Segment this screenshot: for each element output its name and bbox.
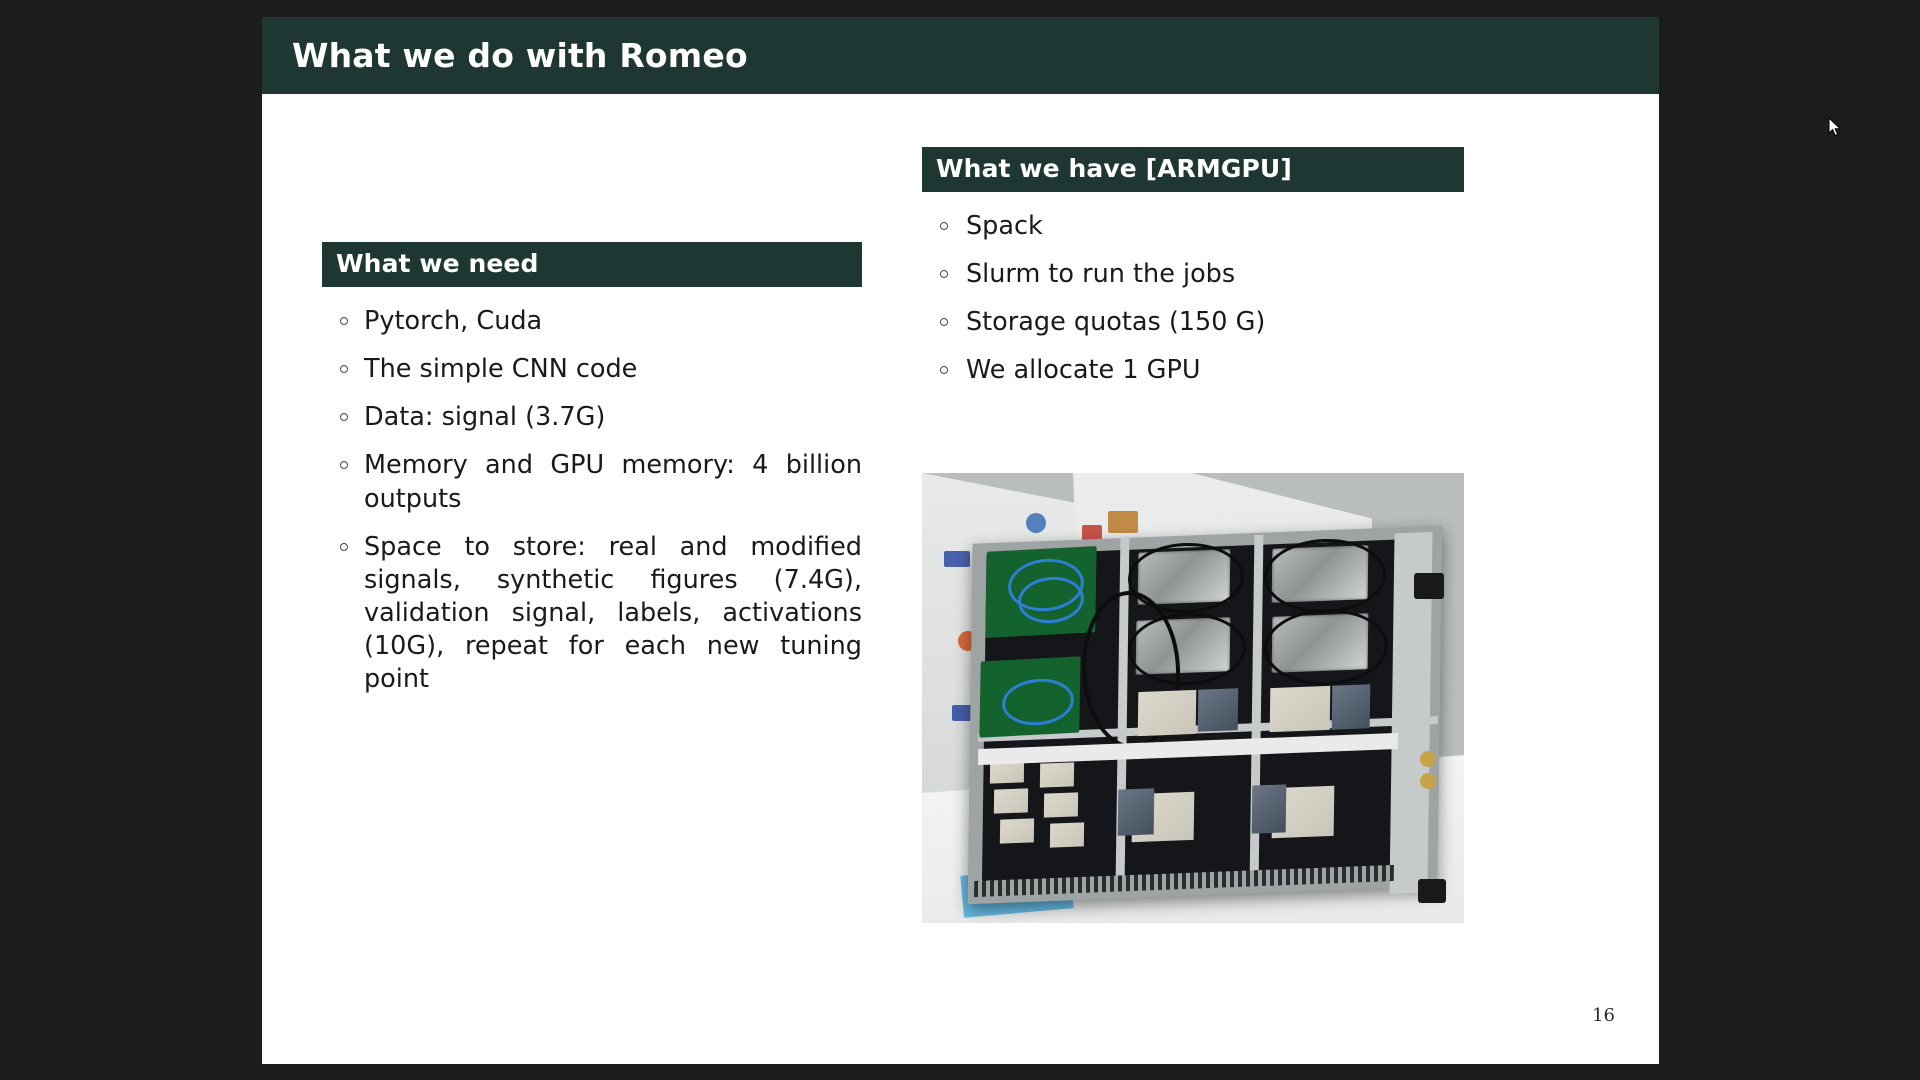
rear-power-module <box>1418 879 1446 903</box>
cpu-die <box>1198 688 1239 732</box>
circle-outline-icon <box>940 318 948 326</box>
sponsor-logo <box>1026 513 1046 533</box>
page-number: 16 <box>1592 1005 1615 1026</box>
list-item: Storage quotas (150 G) <box>922 306 1464 339</box>
circle-outline-icon <box>340 461 348 469</box>
mouse-pointer-icon <box>1828 117 1842 137</box>
circle-outline-icon <box>340 365 348 373</box>
list-item: Pytorch, Cuda <box>322 305 862 338</box>
circle-outline-icon <box>340 413 348 421</box>
rear-connector <box>1420 773 1436 789</box>
list-item-text: Data: signal (3.7G) <box>364 402 605 432</box>
rear-connector <box>1420 751 1436 767</box>
rear-power-module <box>1414 573 1444 599</box>
list-item-text: Pytorch, Cuda <box>364 306 542 336</box>
circle-outline-icon <box>940 270 948 278</box>
list-item-text: Slurm to run the jobs <box>966 259 1235 289</box>
block-have-body: Spack Slurm to run the jobs Storage quot… <box>922 192 1464 388</box>
list-item-text: Memory and GPU memory: 4 billion outputs <box>364 450 862 513</box>
list-item: Slurm to run the jobs <box>922 258 1464 291</box>
cpu-socket <box>1270 686 1331 732</box>
cpu-die <box>1332 684 1371 730</box>
cpu-socket <box>1138 690 1197 736</box>
slide-title-bar: What we do with Romeo <box>262 17 1659 94</box>
need-list: Pytorch, Cuda The simple CNN code Data: … <box>322 305 862 696</box>
list-item: Space to store: real and modified signal… <box>322 531 862 697</box>
sponsor-logo <box>944 551 970 567</box>
page-title: What we do with Romeo <box>292 36 748 75</box>
memory-module <box>1044 792 1078 817</box>
server-photo-canvas <box>922 473 1464 923</box>
list-item-text: Spack <box>966 211 1043 241</box>
list-item: The simple CNN code <box>322 353 862 386</box>
list-item: We allocate 1 GPU <box>922 354 1464 387</box>
list-item-text: Space to store: real and modified signal… <box>364 532 862 695</box>
block-need-body: Pytorch, Cuda The simple CNN code Data: … <box>322 287 862 696</box>
block-need-heading: What we need <box>322 242 862 287</box>
block-what-we-have: What we have [ARMGPU] Spack Slurm to run… <box>922 147 1464 388</box>
cpu-die <box>1252 784 1287 833</box>
block-have-heading: What we have [ARMGPU] <box>922 147 1464 192</box>
cpu-die <box>1118 788 1155 835</box>
list-item: Data: signal (3.7G) <box>322 401 862 434</box>
memory-module <box>1040 762 1074 787</box>
circle-outline-icon <box>940 366 948 374</box>
memory-module <box>1050 822 1084 847</box>
server-photo <box>922 473 1464 923</box>
list-item: Memory and GPU memory: 4 billion outputs <box>322 449 862 515</box>
circle-outline-icon <box>940 222 948 230</box>
sponsor-logo <box>1108 511 1138 533</box>
list-item-text: We allocate 1 GPU <box>966 355 1200 385</box>
have-list: Spack Slurm to run the jobs Storage quot… <box>922 210 1464 388</box>
list-item-text: The simple CNN code <box>364 354 637 384</box>
list-item-text: Storage quotas (150 G) <box>966 307 1265 337</box>
memory-module <box>994 788 1028 813</box>
block-what-we-need: What we need Pytorch, Cuda The simple CN… <box>322 242 862 696</box>
presentation-slide: What we do with Romeo What we need Pytor… <box>262 17 1659 1064</box>
pdf-viewer[interactable]: What we do with Romeo What we need Pytor… <box>0 0 1920 1080</box>
circle-outline-icon <box>340 317 348 325</box>
memory-module <box>1000 818 1034 843</box>
circle-outline-icon <box>340 543 348 551</box>
list-item: Spack <box>922 210 1464 243</box>
